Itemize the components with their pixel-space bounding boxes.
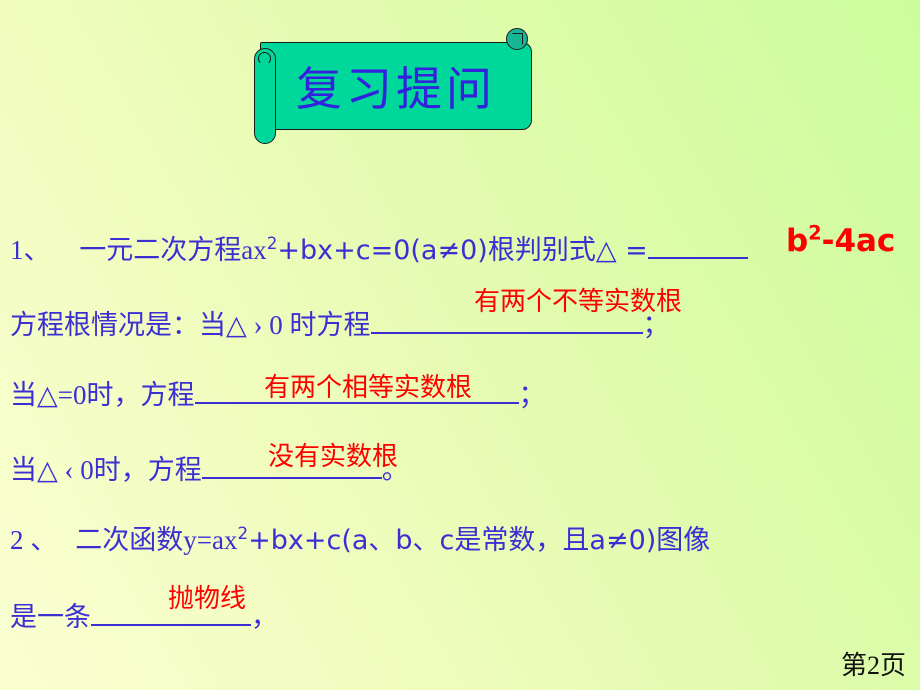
- answer-1c: 有两个相等实数根: [264, 367, 472, 404]
- question-2-text-before: 二次函数y=ax: [75, 525, 237, 555]
- question-1c-terminator: ；: [519, 380, 546, 410]
- answer-2b: 抛物线: [168, 578, 246, 615]
- question-2-text-mid: +bx+c(a、b、c是常数，且a≠0)图像: [248, 525, 710, 556]
- title-banner: 复习提问: [248, 24, 538, 136]
- page-number: 第2页: [841, 645, 906, 682]
- question-1-line: 1、 一元二次方程ax2+bx+c=0(a≠0)根判别式△ =: [10, 228, 748, 267]
- question-1-text-mid: +bx+c=0(a≠0)根判别式△ =: [277, 235, 647, 266]
- question-2b-blank[interactable]: [91, 624, 251, 626]
- page-title: 复习提问: [260, 42, 532, 130]
- answer-1b: 有两个不等实数根: [474, 281, 682, 318]
- question-2-line: 2 、二次函数y=ax2+bx+c(a、b、c是常数，且a≠0)图像: [10, 518, 710, 557]
- slide-canvas: 复习提问 1、 一元二次方程ax2+bx+c=0(a≠0)根判别式△ = b2-…: [0, 0, 920, 690]
- question-1d-blank[interactable]: [202, 477, 382, 479]
- answer-1-tail: -4ac: [822, 223, 896, 259]
- answer-1: b2-4ac: [786, 223, 895, 259]
- question-1d-text: 当△ ‹ 0时，方程: [10, 455, 202, 485]
- question-1-exponent: 2: [267, 233, 278, 253]
- question-1-number: 1、: [10, 235, 51, 265]
- question-1-text-before: 一元二次方程ax: [79, 235, 266, 265]
- question-1-blank[interactable]: [648, 257, 748, 259]
- question-1b-blank[interactable]: [371, 332, 643, 334]
- answer-1d: 没有实数根: [268, 436, 398, 473]
- question-2-exponent: 2: [237, 523, 248, 543]
- question-2-number: 2 、: [10, 525, 57, 555]
- question-1c-text: 当△=0时，方程: [10, 380, 195, 410]
- answer-1-base: b: [786, 223, 808, 259]
- question-1b-text: 方程根情况是：当△ › 0 时方程: [10, 310, 371, 340]
- question-2b-text: 是一条: [10, 602, 91, 632]
- answer-1-exponent: 2: [808, 222, 821, 245]
- question-2b-terminator: ，: [251, 602, 278, 632]
